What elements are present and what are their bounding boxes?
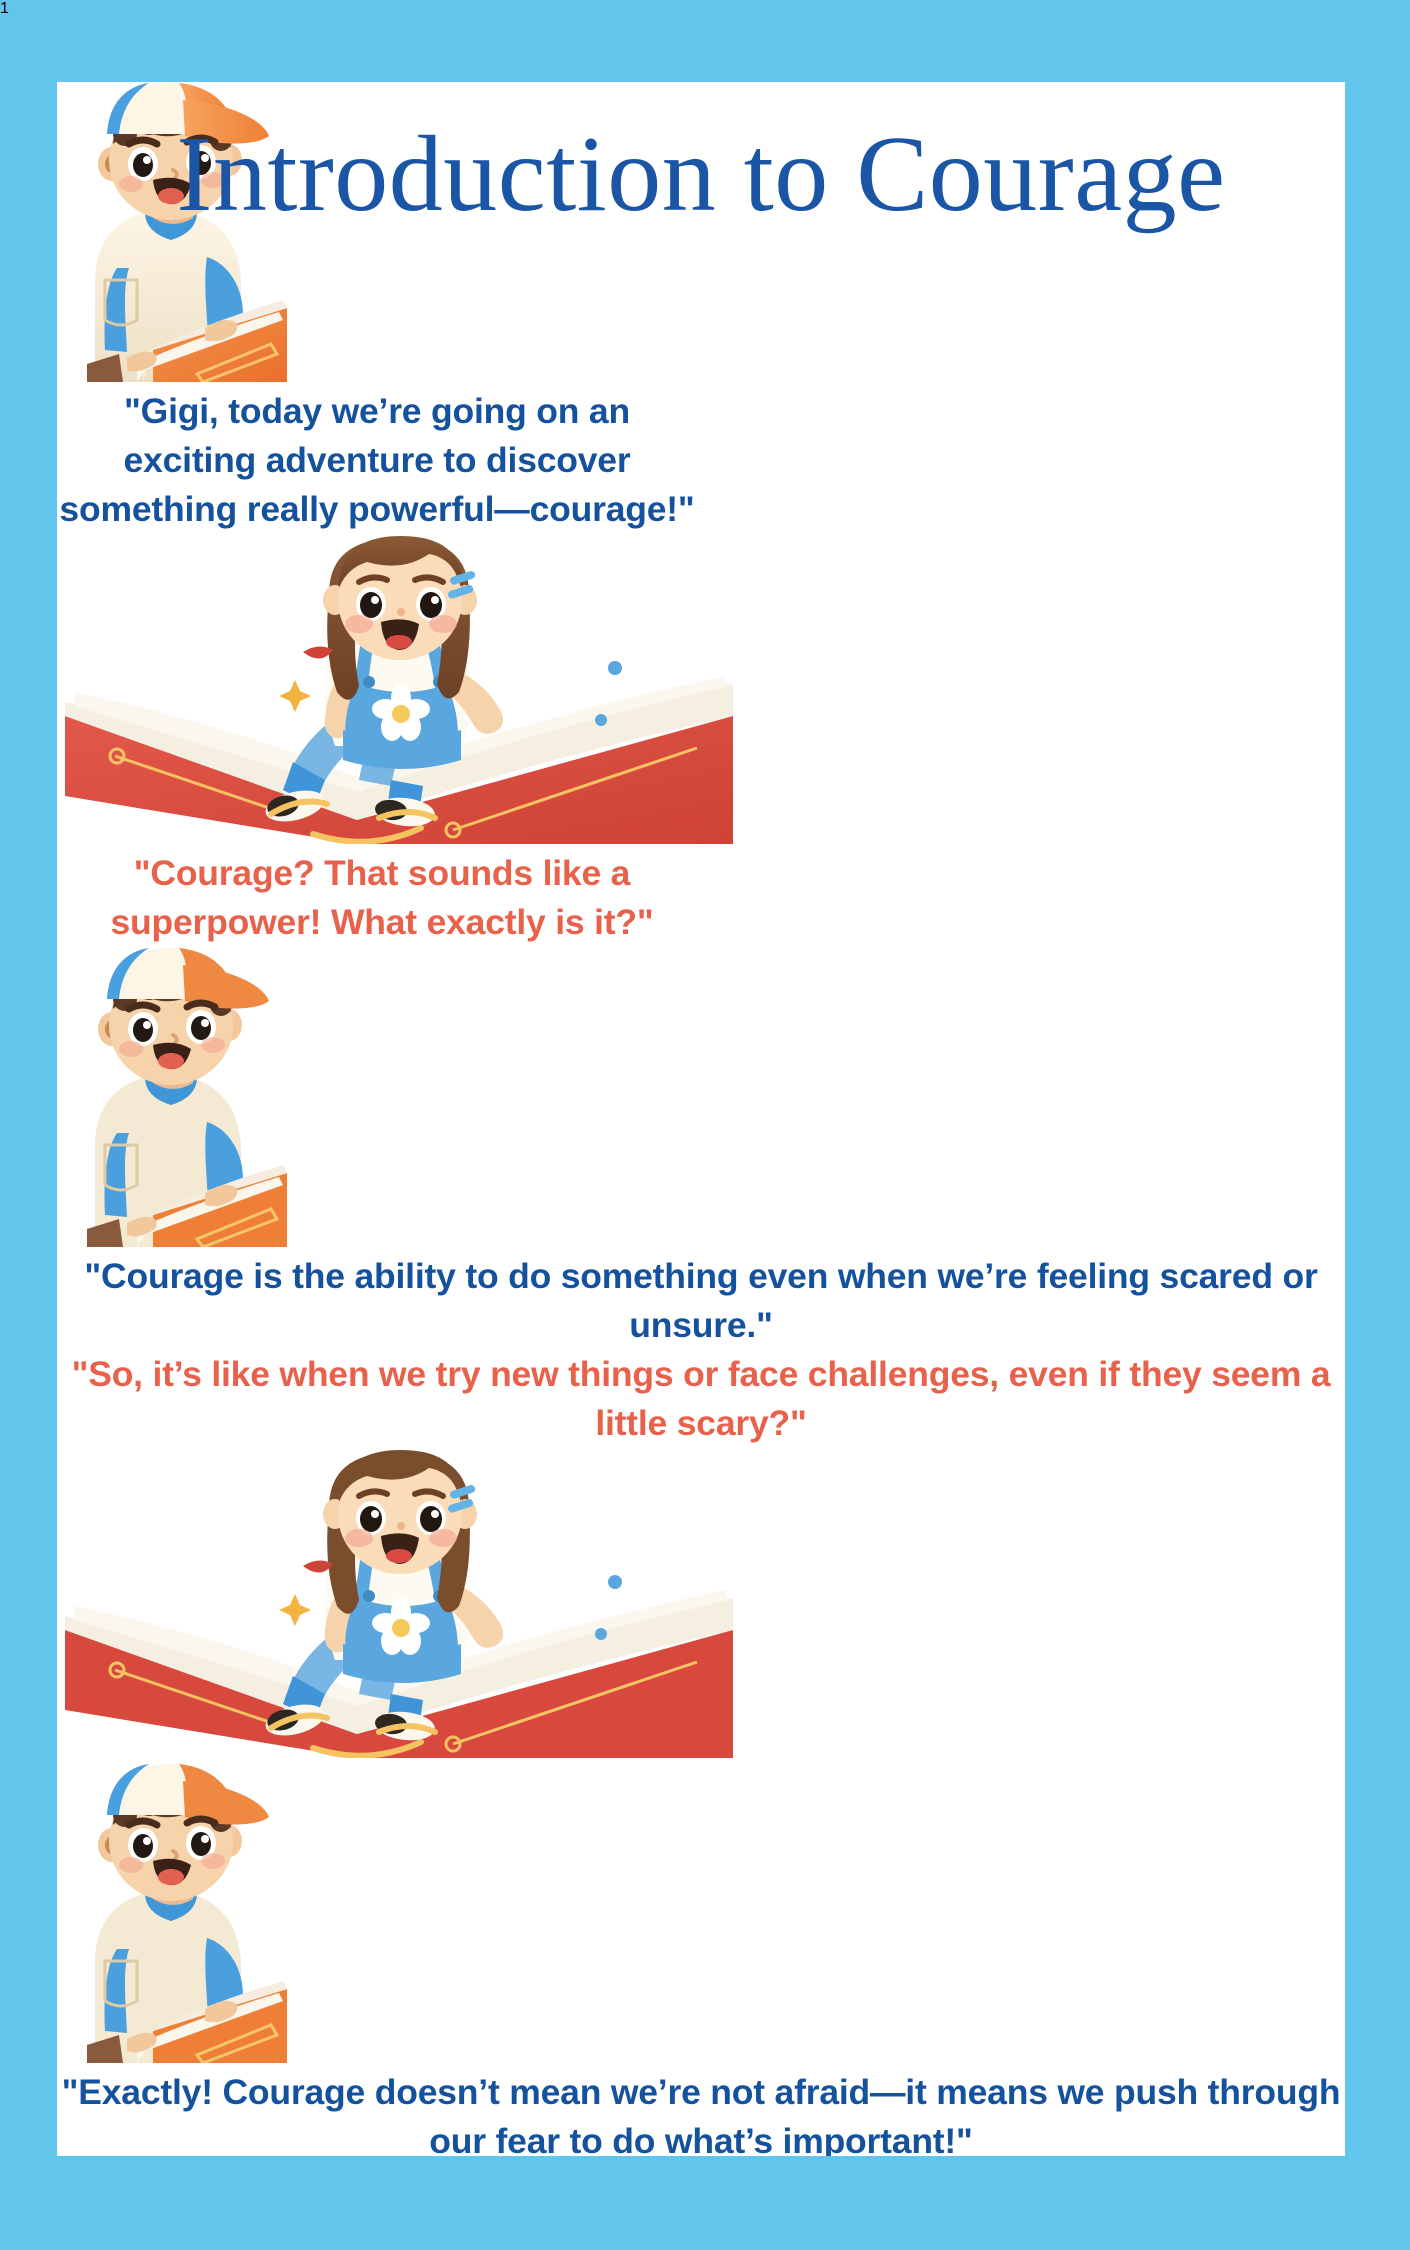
dialogue-text-2: "Courage? That sounds like a superpower!…: [57, 849, 707, 947]
boy-character-illustration-3: [57, 1763, 1345, 2068]
girl-character-illustration-2: [57, 1448, 1345, 1763]
page-border: Introduction to Courage: [0, 0, 1410, 2250]
boy-character-illustration-2: [57, 947, 1345, 1252]
page-title: Introduction to Courage: [57, 118, 1345, 231]
dialogue-text-3: "Courage is the ability to do something …: [57, 1252, 1345, 1350]
dialogue-text-5: "Exactly! Courage doesn’t mean we’re not…: [57, 2068, 1345, 2156]
page-number: 1: [0, 0, 9, 17]
page-card: Introduction to Courage: [57, 82, 1345, 2156]
dialogue-text-1: "Gigi, today we’re going on an exciting …: [57, 387, 697, 534]
boy-svg: [57, 1763, 287, 2063]
dialogue-text-4: "So, it’s like when we try new things or…: [57, 1350, 1345, 1448]
page-number-badge: 1: [0, 0, 1410, 18]
boy-svg: [57, 947, 287, 1247]
girl-character-illustration-1: [57, 534, 1345, 849]
girl-svg: [57, 1448, 733, 1758]
girl-svg: [57, 534, 733, 844]
